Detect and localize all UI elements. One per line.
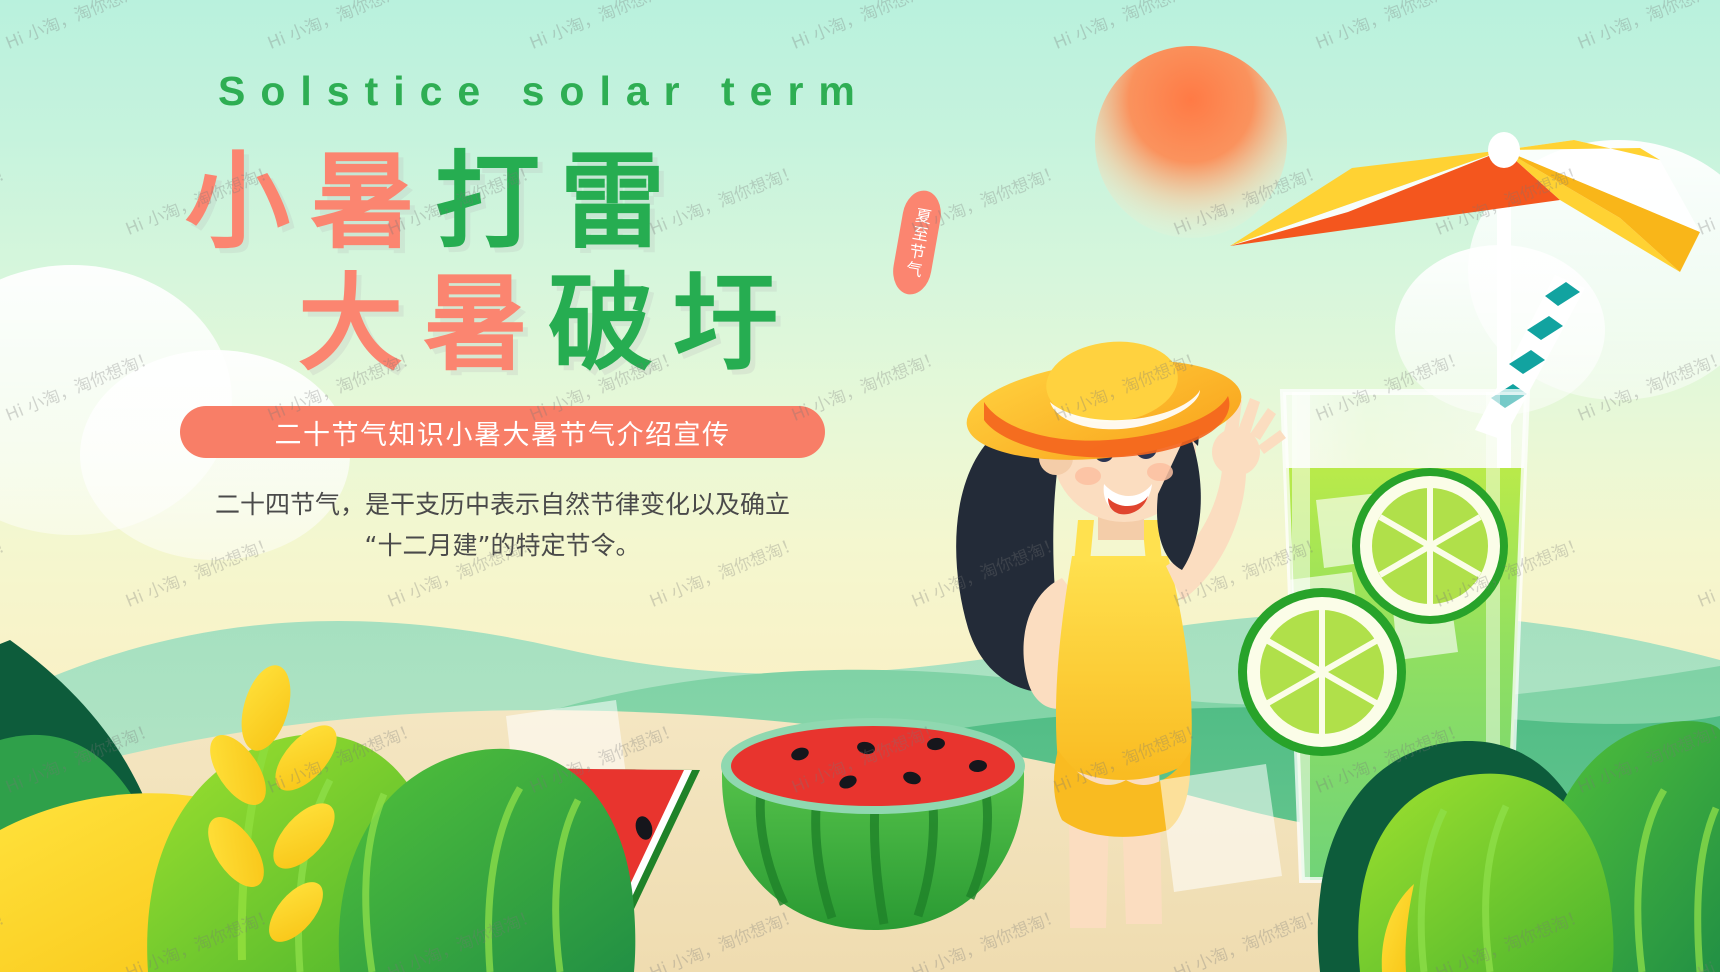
description-line-1: 二十四节气，是干支历中表示自然节律变化以及确立 bbox=[180, 484, 825, 525]
title-line-2-coral: 大暑 bbox=[298, 263, 548, 385]
description-line-2: “十二月建”的特定节令。 bbox=[180, 525, 825, 566]
subtitle-badge[interactable]: 二十节气知识小暑大暑节气介绍宣传 bbox=[180, 406, 825, 458]
title-line-2-green: 破圩 bbox=[548, 263, 798, 385]
title-line-1-coral: 小暑 bbox=[185, 141, 435, 263]
subtitle-badge-label: 二十节气知识小暑大暑节气介绍宣传 bbox=[275, 413, 731, 452]
vertical-seal-label: 夏至节气 bbox=[899, 205, 935, 280]
poster-canvas: Solstice solar term 小暑打雷 大暑破圩 二十节气知识小暑大暑… bbox=[0, 0, 1720, 972]
description-text: 二十四节气，是干支历中表示自然节律变化以及确立 “十二月建”的特定节令。 bbox=[180, 484, 825, 567]
title-line-1: 小暑打雷 bbox=[185, 150, 685, 255]
title-line-2: 大暑破圩 bbox=[298, 272, 798, 377]
headline-block: Solstice solar term 小暑打雷 大暑破圩 二十节气知识小暑大暑… bbox=[0, 0, 1000, 620]
eyebrow-text: Solstice solar term bbox=[218, 68, 838, 115]
title-line-1-green: 打雷 bbox=[435, 141, 685, 263]
